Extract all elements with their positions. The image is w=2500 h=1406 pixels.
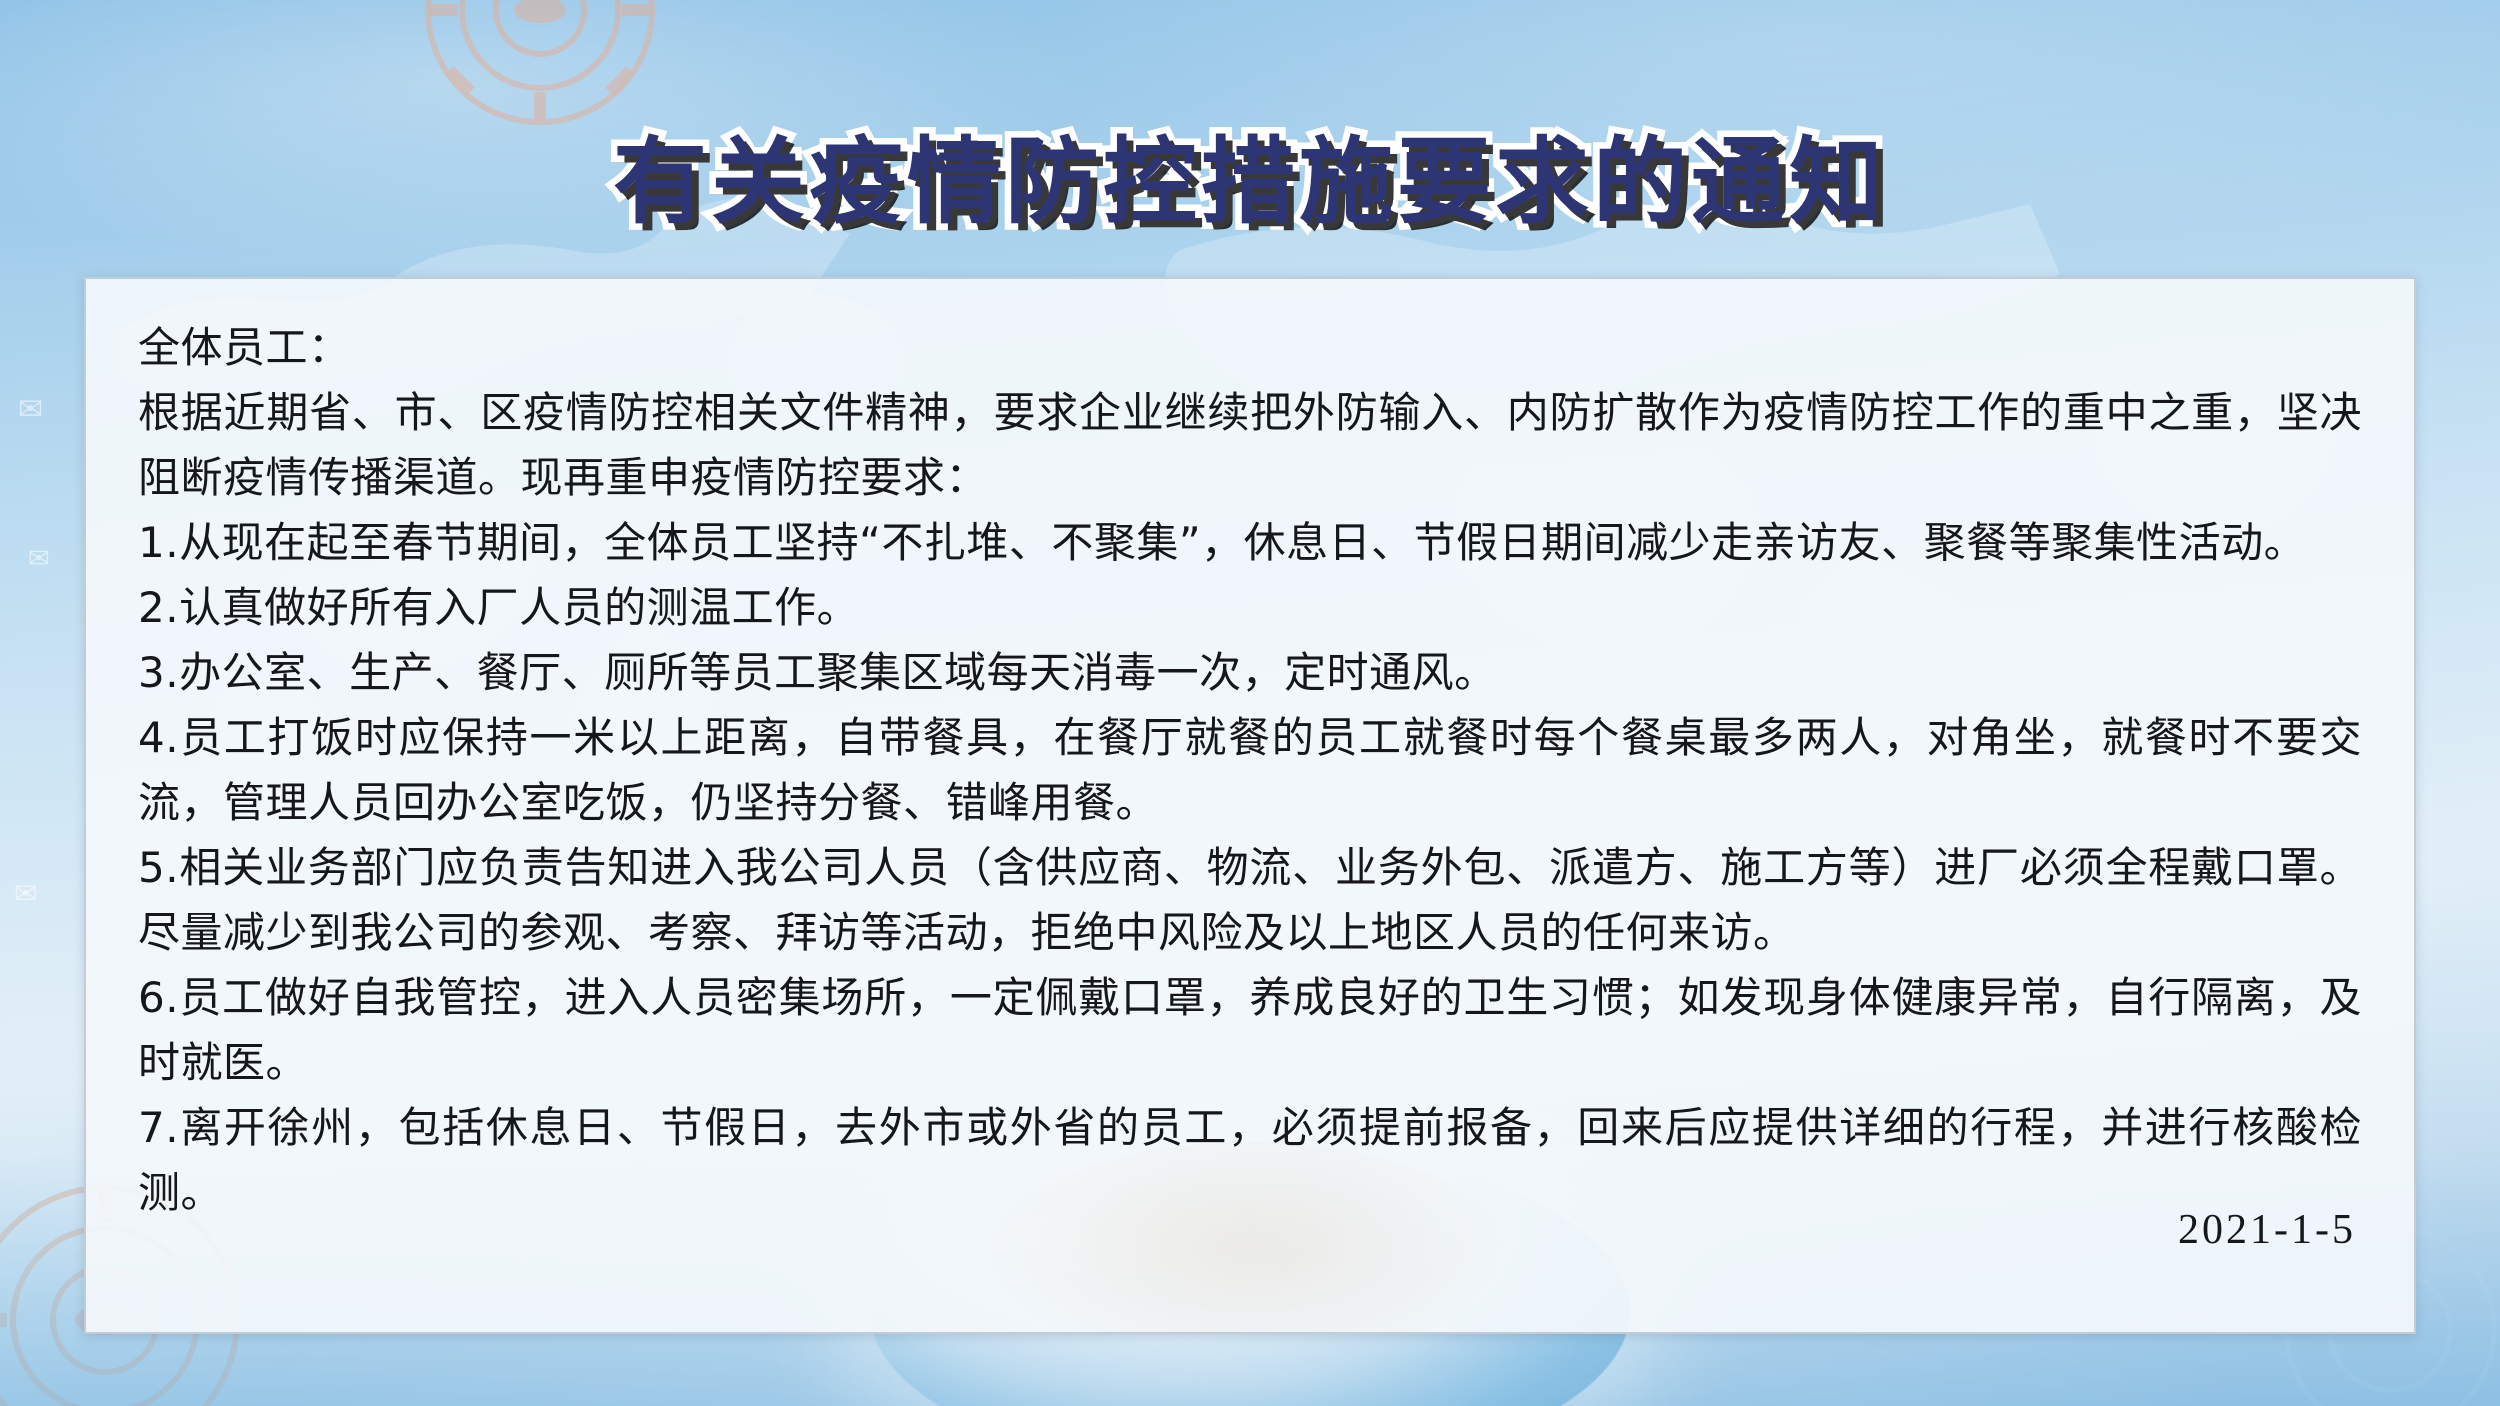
notice-item-6: 6.员工做好自我管控，进入人员密集场所，一定佩戴口罩，养成良好的卫生习惯；如发现…	[138, 965, 2362, 1095]
envelope-icon: ✉	[18, 395, 43, 425]
page-title: 有关疫情防控措施要求的通知	[613, 106, 1887, 242]
notice-item-5: 5.相关业务部门应负责告知进入我公司人员（含供应商、物流、业务外包、派遣方、施工…	[138, 835, 2362, 965]
notice-date: 2021-1-5	[2178, 1206, 2356, 1254]
notice-item-4: 4.员工打饭时应保持一米以上距离，自带餐具，在餐厅就餐的员工就餐时每个餐桌最多两…	[138, 705, 2362, 835]
notice-document-panel: 全体员工： 根据近期省、市、区疫情防控相关文件精神，要求企业继续把外防输入、内防…	[84, 277, 2416, 1334]
notice-item-2: 2.认真做好所有入厂人员的测温工作。	[138, 575, 2362, 640]
salutation: 全体员工：	[138, 315, 2362, 380]
title-banner: 有关疫情防控措施要求的通知	[0, 106, 2500, 242]
notice-item-7: 7.离开徐州，包括休息日、节假日，去外市或外省的员工，必须提前报备，回来后应提供…	[138, 1095, 2362, 1225]
envelope-icon: ✉	[14, 880, 37, 908]
poster-canvas: ✉ ✉ ✉ 有关疫情防控措施要求的通知 全体员工： 根据近期省、市、区疫情防控相…	[0, 0, 2500, 1406]
notice-item-3: 3.办公室、生产、餐厅、厕所等员工聚集区域每天消毒一次，定时通风。	[138, 640, 2362, 705]
envelope-icon: ✉	[28, 545, 50, 571]
notice-item-1: 1.从现在起至春节期间，全体员工坚持“不扎堆、不聚集”，休息日、节假日期间减少走…	[138, 510, 2362, 575]
intro-paragraph: 根据近期省、市、区疫情防控相关文件精神，要求企业继续把外防输入、内防扩散作为疫情…	[138, 380, 2362, 510]
notice-body: 全体员工： 根据近期省、市、区疫情防控相关文件精神，要求企业继续把外防输入、内防…	[138, 315, 2362, 1225]
